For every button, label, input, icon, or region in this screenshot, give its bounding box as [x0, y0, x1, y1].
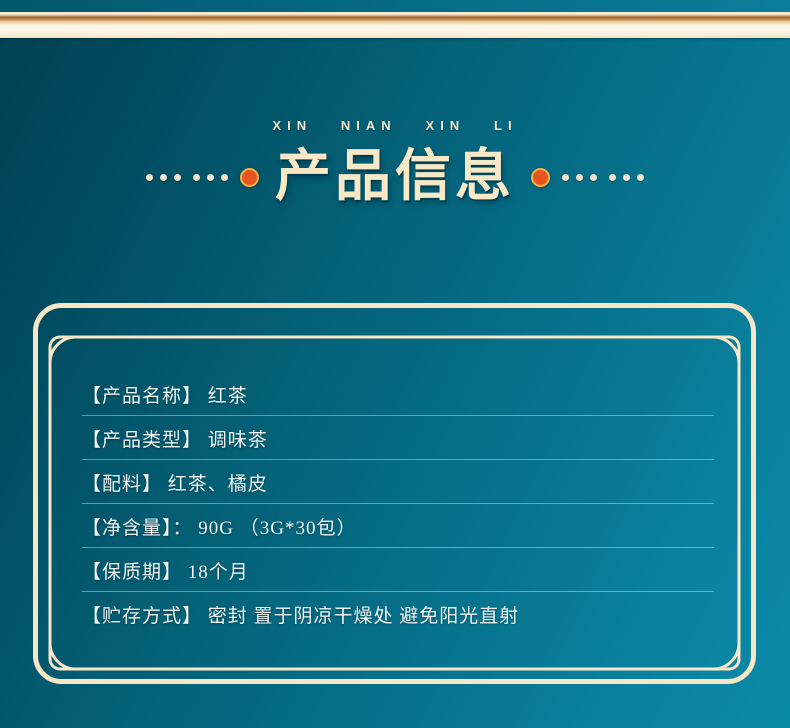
- band-drop-shadow: [0, 38, 790, 41]
- info-row: 【产品类型】 调味茶: [82, 416, 714, 460]
- small-dot-icon: [576, 174, 583, 181]
- info-row: 【保质期】 18个月: [82, 548, 714, 592]
- small-dot-icon: [207, 174, 214, 181]
- info-row-text: 【产品名称】 红茶: [82, 381, 248, 408]
- info-row: 【贮存方式】 密封 置于阴凉干燥处 避免阳光直射: [82, 592, 714, 636]
- small-dot-icon: [562, 174, 569, 181]
- info-row: 【净含量】： 90G （3G*30包）: [82, 504, 714, 548]
- band-gold-strip: [0, 12, 790, 38]
- dot-group-right-inner: [562, 174, 597, 181]
- dot-group-left-outer: [146, 174, 181, 181]
- small-dot-icon: [623, 174, 630, 181]
- left-decoration: [146, 168, 259, 187]
- large-dot-icon: [240, 168, 259, 187]
- small-dot-icon: [637, 174, 644, 181]
- info-row-text: 【配料】 红茶、橘皮: [82, 469, 268, 496]
- dot-group-left-inner: [193, 174, 228, 181]
- info-row-text: 【产品类型】 调味茶: [82, 425, 268, 452]
- top-decorative-band: [0, 0, 790, 40]
- page-header: XIN NIAN XIN LI 产品信息: [0, 118, 790, 205]
- product-info-page: XIN NIAN XIN LI 产品信息: [0, 0, 790, 728]
- small-dot-icon: [174, 174, 181, 181]
- title-row: 产品信息: [0, 149, 790, 205]
- large-dot-icon: [531, 168, 550, 187]
- small-dot-icon: [193, 174, 200, 181]
- small-dot-icon: [146, 174, 153, 181]
- info-row-text: 【贮存方式】 密封 置于阴凉干燥处 避免阳光直射: [82, 601, 519, 628]
- small-dot-icon: [160, 174, 167, 181]
- info-row: 【配料】 红茶、橘皮: [82, 460, 714, 504]
- dot-group-right-outer: [609, 174, 644, 181]
- right-decoration: [531, 168, 644, 187]
- info-row-text: 【保质期】 18个月: [82, 557, 249, 584]
- small-dot-icon: [609, 174, 616, 181]
- info-row-text: 【净含量】： 90G （3G*30包）: [82, 513, 356, 540]
- small-dot-icon: [590, 174, 597, 181]
- band-teal-strip: [0, 0, 790, 12]
- product-info-list: 【产品名称】 红茶 【产品类型】 调味茶 【配料】 红茶、橘皮 【净含量】： 9…: [82, 372, 714, 636]
- pinyin-subtitle: XIN NIAN XIN LI: [0, 118, 790, 133]
- page-title: 产品信息: [275, 149, 515, 205]
- info-row: 【产品名称】 红茶: [82, 372, 714, 416]
- small-dot-icon: [221, 174, 228, 181]
